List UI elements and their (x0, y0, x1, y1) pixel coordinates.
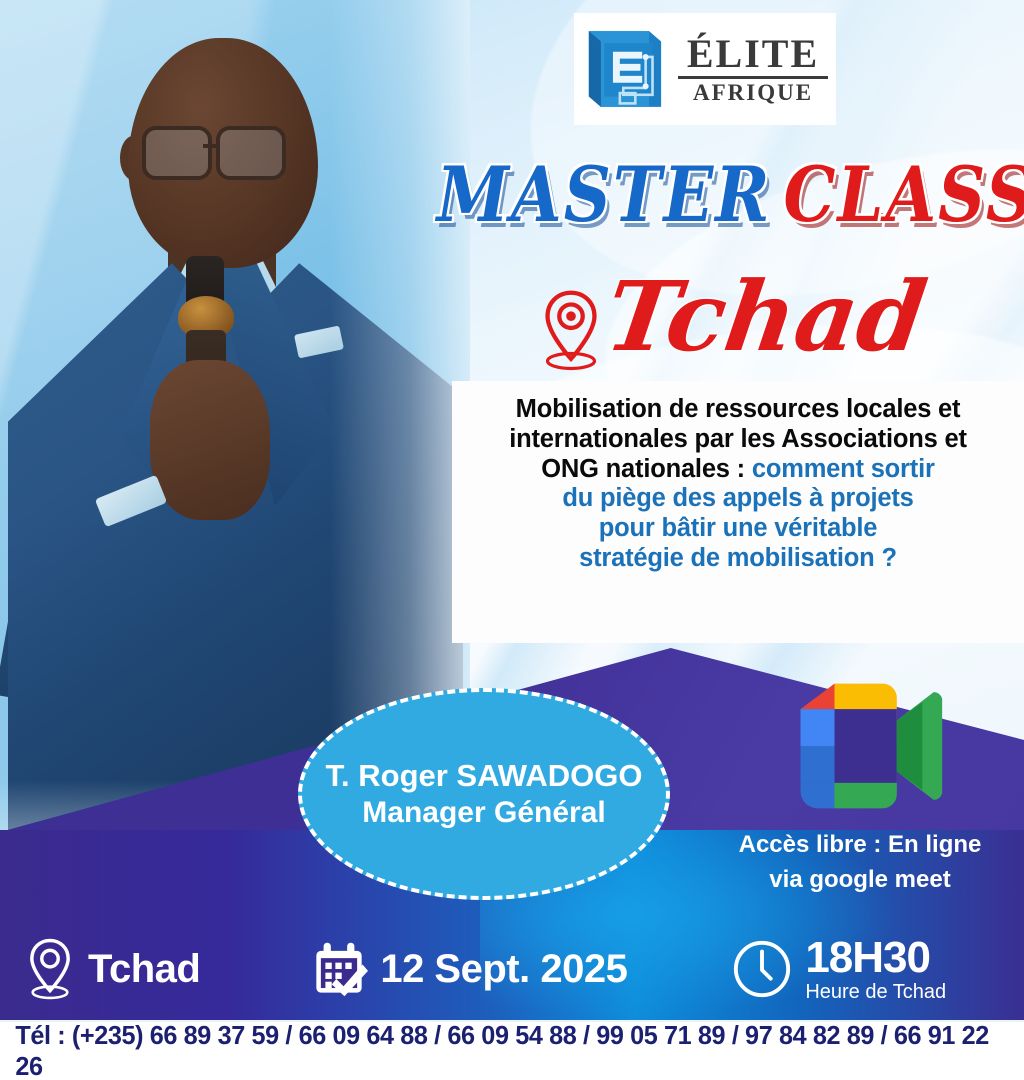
info-time: 18H30 Heure de Tchad (731, 936, 946, 1002)
location-pin-icon (539, 286, 603, 372)
info-place-label: Tchad (88, 947, 200, 992)
info-date-label: 12 Sept. 2025 (380, 947, 627, 992)
poster: ÉLITE AFRIQUE MASTERCLASS Tchad Mobilisa… (0, 0, 1024, 1080)
brand-logo: ÉLITE AFRIQUE (574, 13, 836, 125)
access-line-1: Accès libre : En ligne (700, 831, 1020, 860)
title-location-label: Tchad (600, 269, 931, 365)
event-info-strip: Tchad 12 Sept. 2025 (0, 925, 1024, 1013)
topic-line-5: pour bâtir une véritable (468, 514, 1008, 544)
photo-glasses-bridge (203, 144, 218, 148)
location-pin-icon (24, 937, 76, 1001)
topic-panel: Mobilisation de ressources locales et in… (452, 381, 1024, 643)
topic-line-2: internationales par les Associations et (468, 425, 1008, 455)
brand-name-secondary: AFRIQUE (693, 81, 813, 104)
title-location: Tchad (440, 262, 1024, 372)
speaker-name: T. Roger SAWADOGO (326, 758, 643, 795)
brand-divider (678, 76, 828, 79)
brand-name-primary: ÉLITE (687, 35, 819, 73)
access-block: Accès libre : En ligne via google meet (700, 672, 1020, 895)
topic-line-3-black: ONG nationales : (541, 455, 745, 483)
google-meet-icon (775, 672, 945, 820)
info-timezone-label: Heure de Tchad (805, 982, 946, 1002)
info-date: 12 Sept. 2025 (310, 940, 627, 998)
photo-glasses-right (216, 126, 286, 180)
page-title: MASTERCLASS (440, 158, 1024, 233)
title-word-master: MASTER (437, 151, 772, 240)
photo-hand (150, 360, 270, 520)
topic-line-1: Mobilisation de ressources locales et (468, 395, 1008, 425)
speaker-role: Manager Général (362, 795, 605, 830)
contact-footer: Tél : (+235) 66 89 37 59 / 66 09 64 88 /… (0, 1022, 1024, 1080)
info-time-label: 18H30 (805, 936, 946, 980)
title-word-class: CLASS (784, 151, 1024, 240)
speaker-badge: T. Roger SAWADOGO Manager Général (298, 688, 670, 900)
topic-line-6: stratégie de mobilisation ? (468, 544, 1008, 574)
contact-phone-numbers: Tél : (+235) 66 89 37 59 / 66 09 64 88 /… (15, 1020, 1008, 1080)
topic-line-3-blue: comment sortir (752, 455, 935, 483)
brand-logo-text: ÉLITE AFRIQUE (678, 35, 828, 104)
book-circuit-icon (582, 25, 668, 113)
clock-icon (731, 938, 793, 1000)
info-time-stack: 18H30 Heure de Tchad (805, 936, 946, 1002)
access-line-2: via google meet (700, 866, 1020, 895)
photo-glasses-left (142, 126, 212, 180)
info-place: Tchad (24, 937, 200, 1001)
topic-line-3: ONG nationales : comment sortir (468, 455, 1008, 485)
calendar-check-icon (310, 940, 368, 998)
topic-line-4: du piège des appels à projets (468, 484, 1008, 514)
